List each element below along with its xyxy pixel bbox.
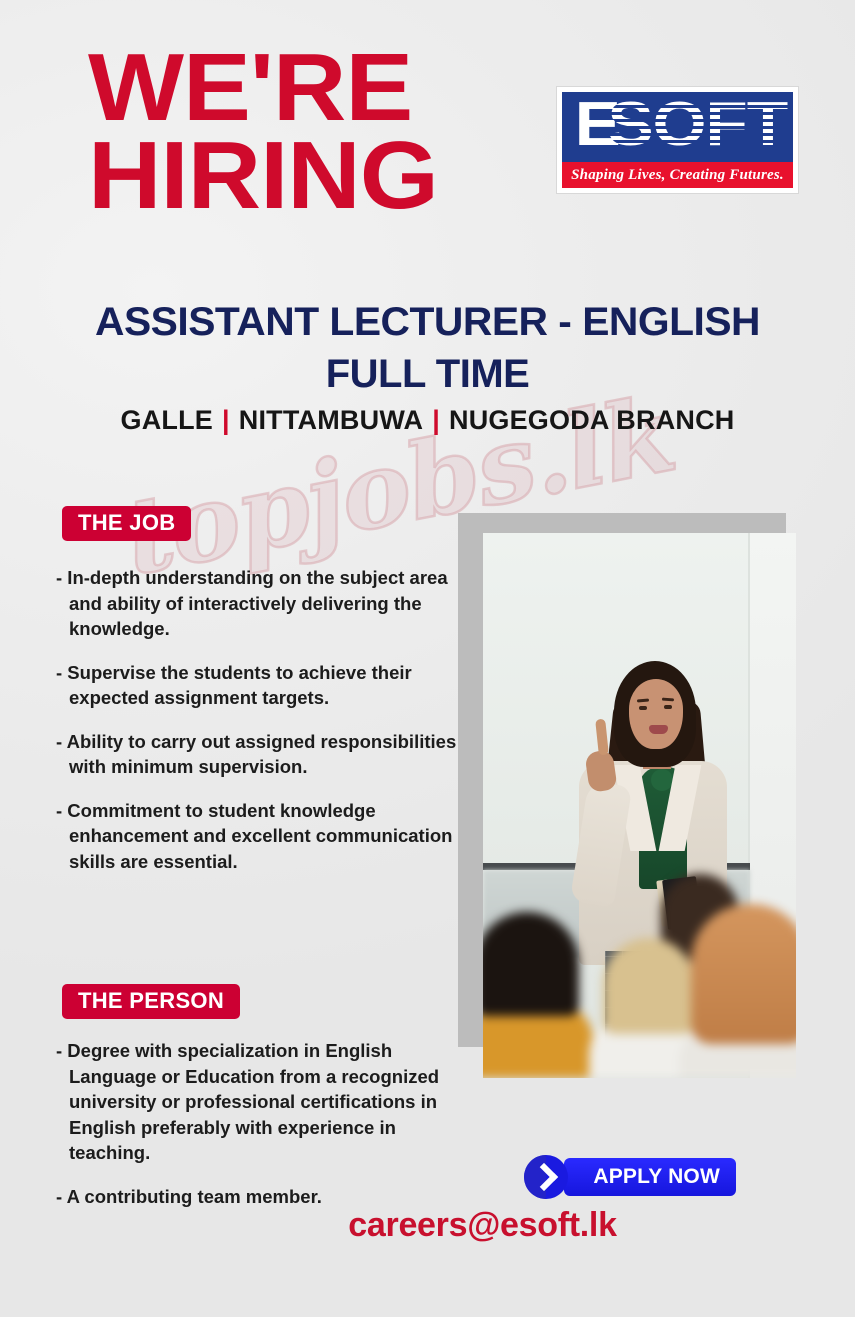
esoft-logo: ESOFT Shaping Lives, Creating Futures. — [556, 86, 799, 194]
photo-foreground-students — [483, 828, 796, 1078]
list-item: - Commitment to student knowledge enhanc… — [56, 798, 462, 875]
location-nittambuwa: NITTAMBUWA — [239, 405, 423, 435]
photo-student-1-head — [483, 912, 579, 1016]
logo-letters-soft: SOFT — [607, 94, 788, 156]
list-item: - In-depth understanding on the subject … — [56, 565, 462, 642]
apply-now-pill[interactable]: APPLY NOW — [564, 1158, 736, 1196]
location-galle: GALLE — [121, 405, 214, 435]
page-title: WE'RE HIRING — [88, 44, 438, 221]
photo-student-2-head — [603, 938, 695, 1034]
person-requirements-list: - Degree with specialization in English … — [56, 1038, 462, 1209]
job-title: ASSISTANT LECTURER - ENGLISH — [0, 300, 855, 345]
section-badge-the-person: THE PERSON — [62, 984, 240, 1019]
logo-panel: ESOFT Shaping Lives, Creating Futures. — [562, 92, 793, 188]
job-responsibilities-list: - In-depth understanding on the subject … — [56, 565, 462, 874]
location-nugegoda: NUGEGODA BRANCH — [449, 405, 735, 435]
lecturer-classroom-photo — [483, 533, 796, 1078]
arrow-right-icon[interactable] — [524, 1155, 568, 1199]
headline-line-2: HIRING — [88, 132, 438, 220]
list-item: - Supervise the students to achieve thei… — [56, 660, 462, 711]
list-item: - Ability to carry out assigned responsi… — [56, 729, 462, 780]
apply-now-button[interactable]: APPLY NOW — [524, 1155, 736, 1199]
photo-teacher-collar — [651, 769, 673, 791]
apply-now-label: APPLY NOW — [593, 1165, 720, 1189]
photo-teacher-mouth — [649, 725, 668, 734]
list-item: - Degree with specialization in English … — [56, 1038, 462, 1166]
location-separator-1: | — [213, 405, 239, 435]
photo-student-4-head — [691, 904, 796, 1044]
contact-email[interactable]: careers@esoft.lk — [0, 1206, 855, 1245]
photo-teacher-face — [629, 679, 683, 749]
job-locations: GALLE|NITTAMBUWA|NUGEGODA BRANCH — [0, 405, 855, 436]
logo-wordmark: ESOFT — [562, 92, 793, 162]
location-separator-2: | — [423, 405, 449, 435]
logo-tagline: Shaping Lives, Creating Futures. — [562, 162, 793, 188]
job-type: FULL TIME — [0, 352, 855, 397]
job-poster: topjobs.lk WE'RE HIRING ESOFT Shaping Li… — [0, 0, 855, 1317]
section-badge-the-job: THE JOB — [62, 506, 191, 541]
photo-teacher-eye-right — [664, 705, 672, 709]
photo-teacher-eye-left — [639, 706, 647, 710]
